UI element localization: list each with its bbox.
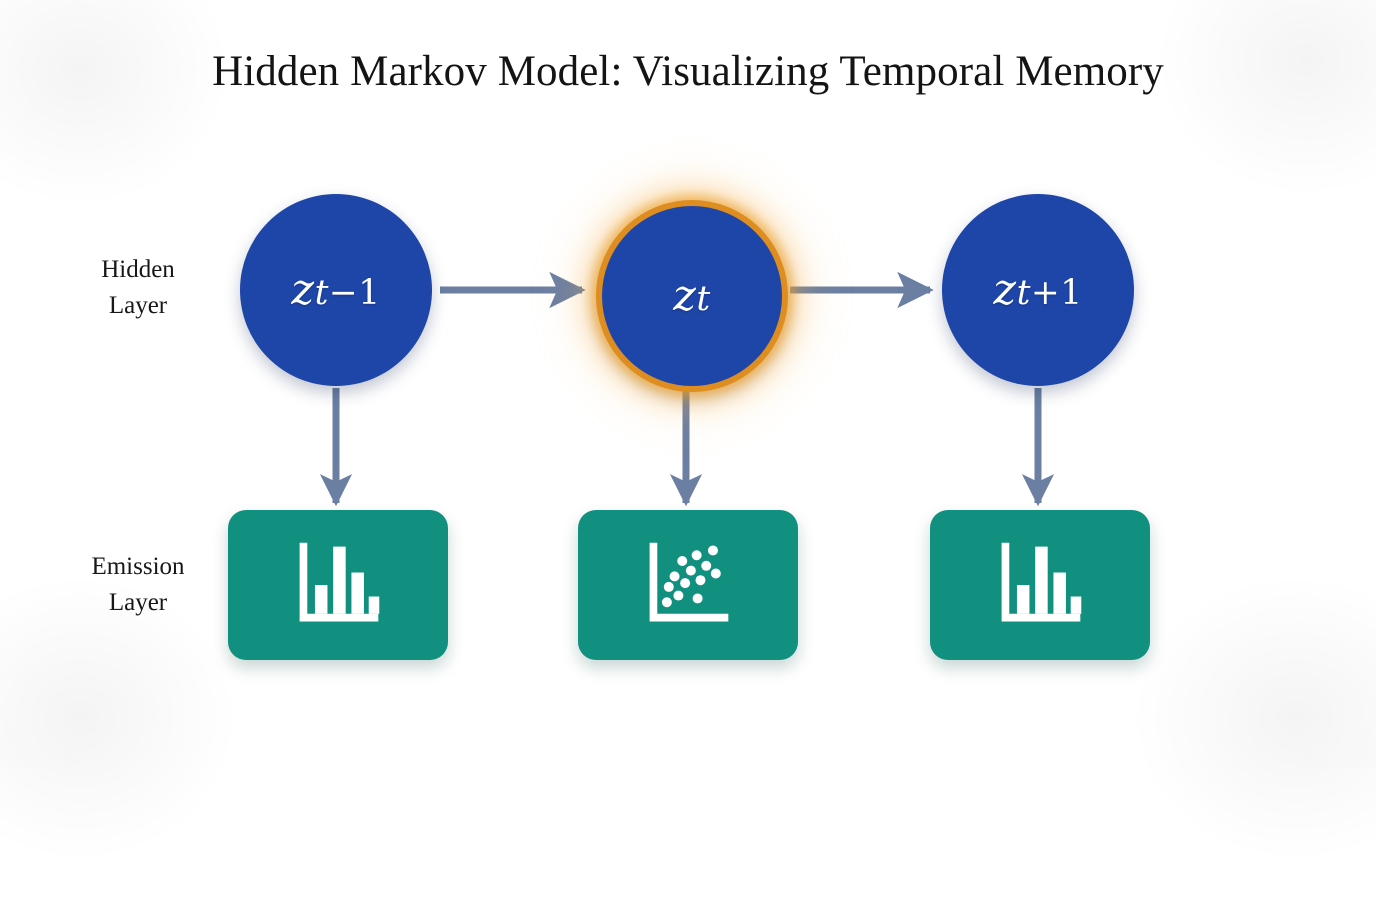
emission-box-0[interactable] <box>228 510 448 660</box>
bar-chart-icon <box>992 537 1088 633</box>
hidden-node-label-1: zt <box>673 271 710 321</box>
node-base-2: z <box>993 265 1016 315</box>
node-base-1: z <box>673 271 696 321</box>
node-sub-var-0: t <box>315 273 329 313</box>
hidden-node-label-2: zt+1 <box>993 265 1082 315</box>
hidden-node-label-0: zt−1 <box>291 265 380 315</box>
hidden-node-z-t-minus-1[interactable]: zt−1 <box>240 194 432 386</box>
node-sub-op-2: +1 <box>1031 273 1083 313</box>
hidden-node-z-t-plus-1[interactable]: zt+1 <box>942 194 1134 386</box>
node-sub-var-1: t <box>696 279 710 319</box>
node-sub-var-2: t <box>1017 273 1031 313</box>
emission-box-1[interactable] <box>578 510 798 660</box>
diagram-canvas: Hidden Markov Model: Visualizing Tempora… <box>0 0 1376 768</box>
bar-chart-icon <box>290 537 386 633</box>
node-sub-op-0: −1 <box>329 273 381 313</box>
node-subscript-1: t <box>696 279 710 319</box>
node-subscript-2: t+1 <box>1017 273 1083 313</box>
scatter-plot-icon <box>640 537 736 633</box>
emission-box-2[interactable] <box>930 510 1150 660</box>
node-subscript-0: t−1 <box>315 273 381 313</box>
hidden-node-z-t[interactable]: zt <box>596 200 788 392</box>
node-base-0: z <box>291 265 314 315</box>
